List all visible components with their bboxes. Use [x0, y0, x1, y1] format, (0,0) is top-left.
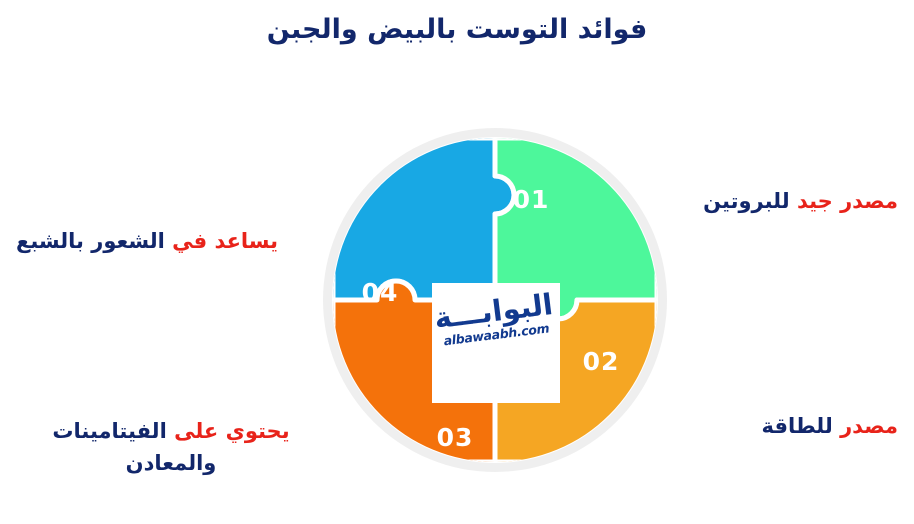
label-benefit-02-rest: للطاقة: [761, 414, 840, 438]
label-benefit-04-rest: الشعور بالشبع: [16, 229, 172, 253]
puzzle-piece-04[interactable]: [333, 138, 514, 300]
label-benefit-01: مصدر جيد للبروتين: [703, 186, 898, 218]
infographic-canvas: فوائد التوست بالبيض والجبن: [0, 0, 914, 524]
puzzle-circle-graphic: 01 02 03 04: [320, 128, 670, 478]
piece-number-02: 02: [583, 347, 620, 376]
puzzle-svg: 01 02 03 04: [320, 128, 670, 478]
label-benefit-01-highlight: مصدر جيد: [797, 189, 898, 213]
label-benefit-03: يحتوي على الفيتامينات والمعادن: [16, 416, 326, 479]
label-benefit-04: يساعد في الشعور بالشبع: [16, 226, 278, 258]
center-logo-plate: [432, 283, 560, 403]
piece-number-01: 01: [513, 185, 550, 214]
label-benefit-02-highlight: مصدر: [840, 414, 898, 438]
page-title: فوائد التوست بالبيض والجبن: [0, 14, 914, 45]
piece-number-04: 04: [362, 278, 399, 307]
label-benefit-03-highlight: يحتوي على: [174, 419, 289, 443]
piece-number-03: 03: [437, 423, 474, 452]
label-benefit-02: مصدر للطاقة: [761, 411, 898, 443]
label-benefit-01-rest: للبروتين: [703, 189, 797, 213]
label-benefit-04-highlight: يساعد في: [172, 229, 278, 253]
